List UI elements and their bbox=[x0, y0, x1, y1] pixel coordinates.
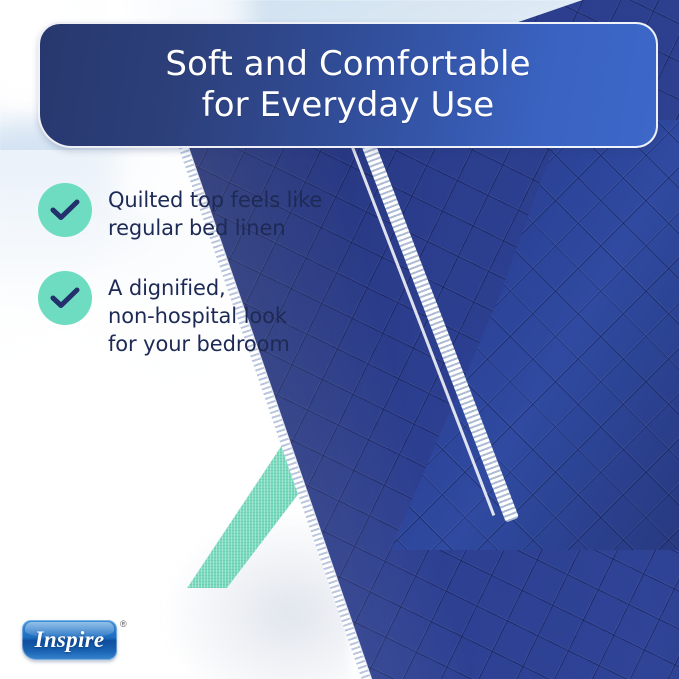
product-marketing-image: Soft and Comfortable for Everyday Use Qu… bbox=[0, 0, 679, 679]
brand-logo-text: Inspire bbox=[35, 627, 105, 653]
feature-text: Quilted top feels like regular bed linen bbox=[108, 183, 322, 243]
feature-list: Quilted top feels like regular bed linen… bbox=[38, 183, 378, 387]
brand-logo: Inspire bbox=[22, 620, 117, 660]
list-item: Quilted top feels like regular bed linen bbox=[38, 183, 378, 243]
page-title: Soft and Comfortable for Everyday Use bbox=[153, 44, 542, 127]
list-item: A dignified, non-hospital look for your … bbox=[38, 271, 378, 359]
feature-text: A dignified, non-hospital look for your … bbox=[108, 271, 290, 359]
header-banner: Soft and Comfortable for Everyday Use bbox=[38, 22, 658, 148]
registered-trademark-icon: ® bbox=[120, 619, 127, 629]
check-icon bbox=[38, 271, 92, 325]
check-icon bbox=[38, 183, 92, 237]
